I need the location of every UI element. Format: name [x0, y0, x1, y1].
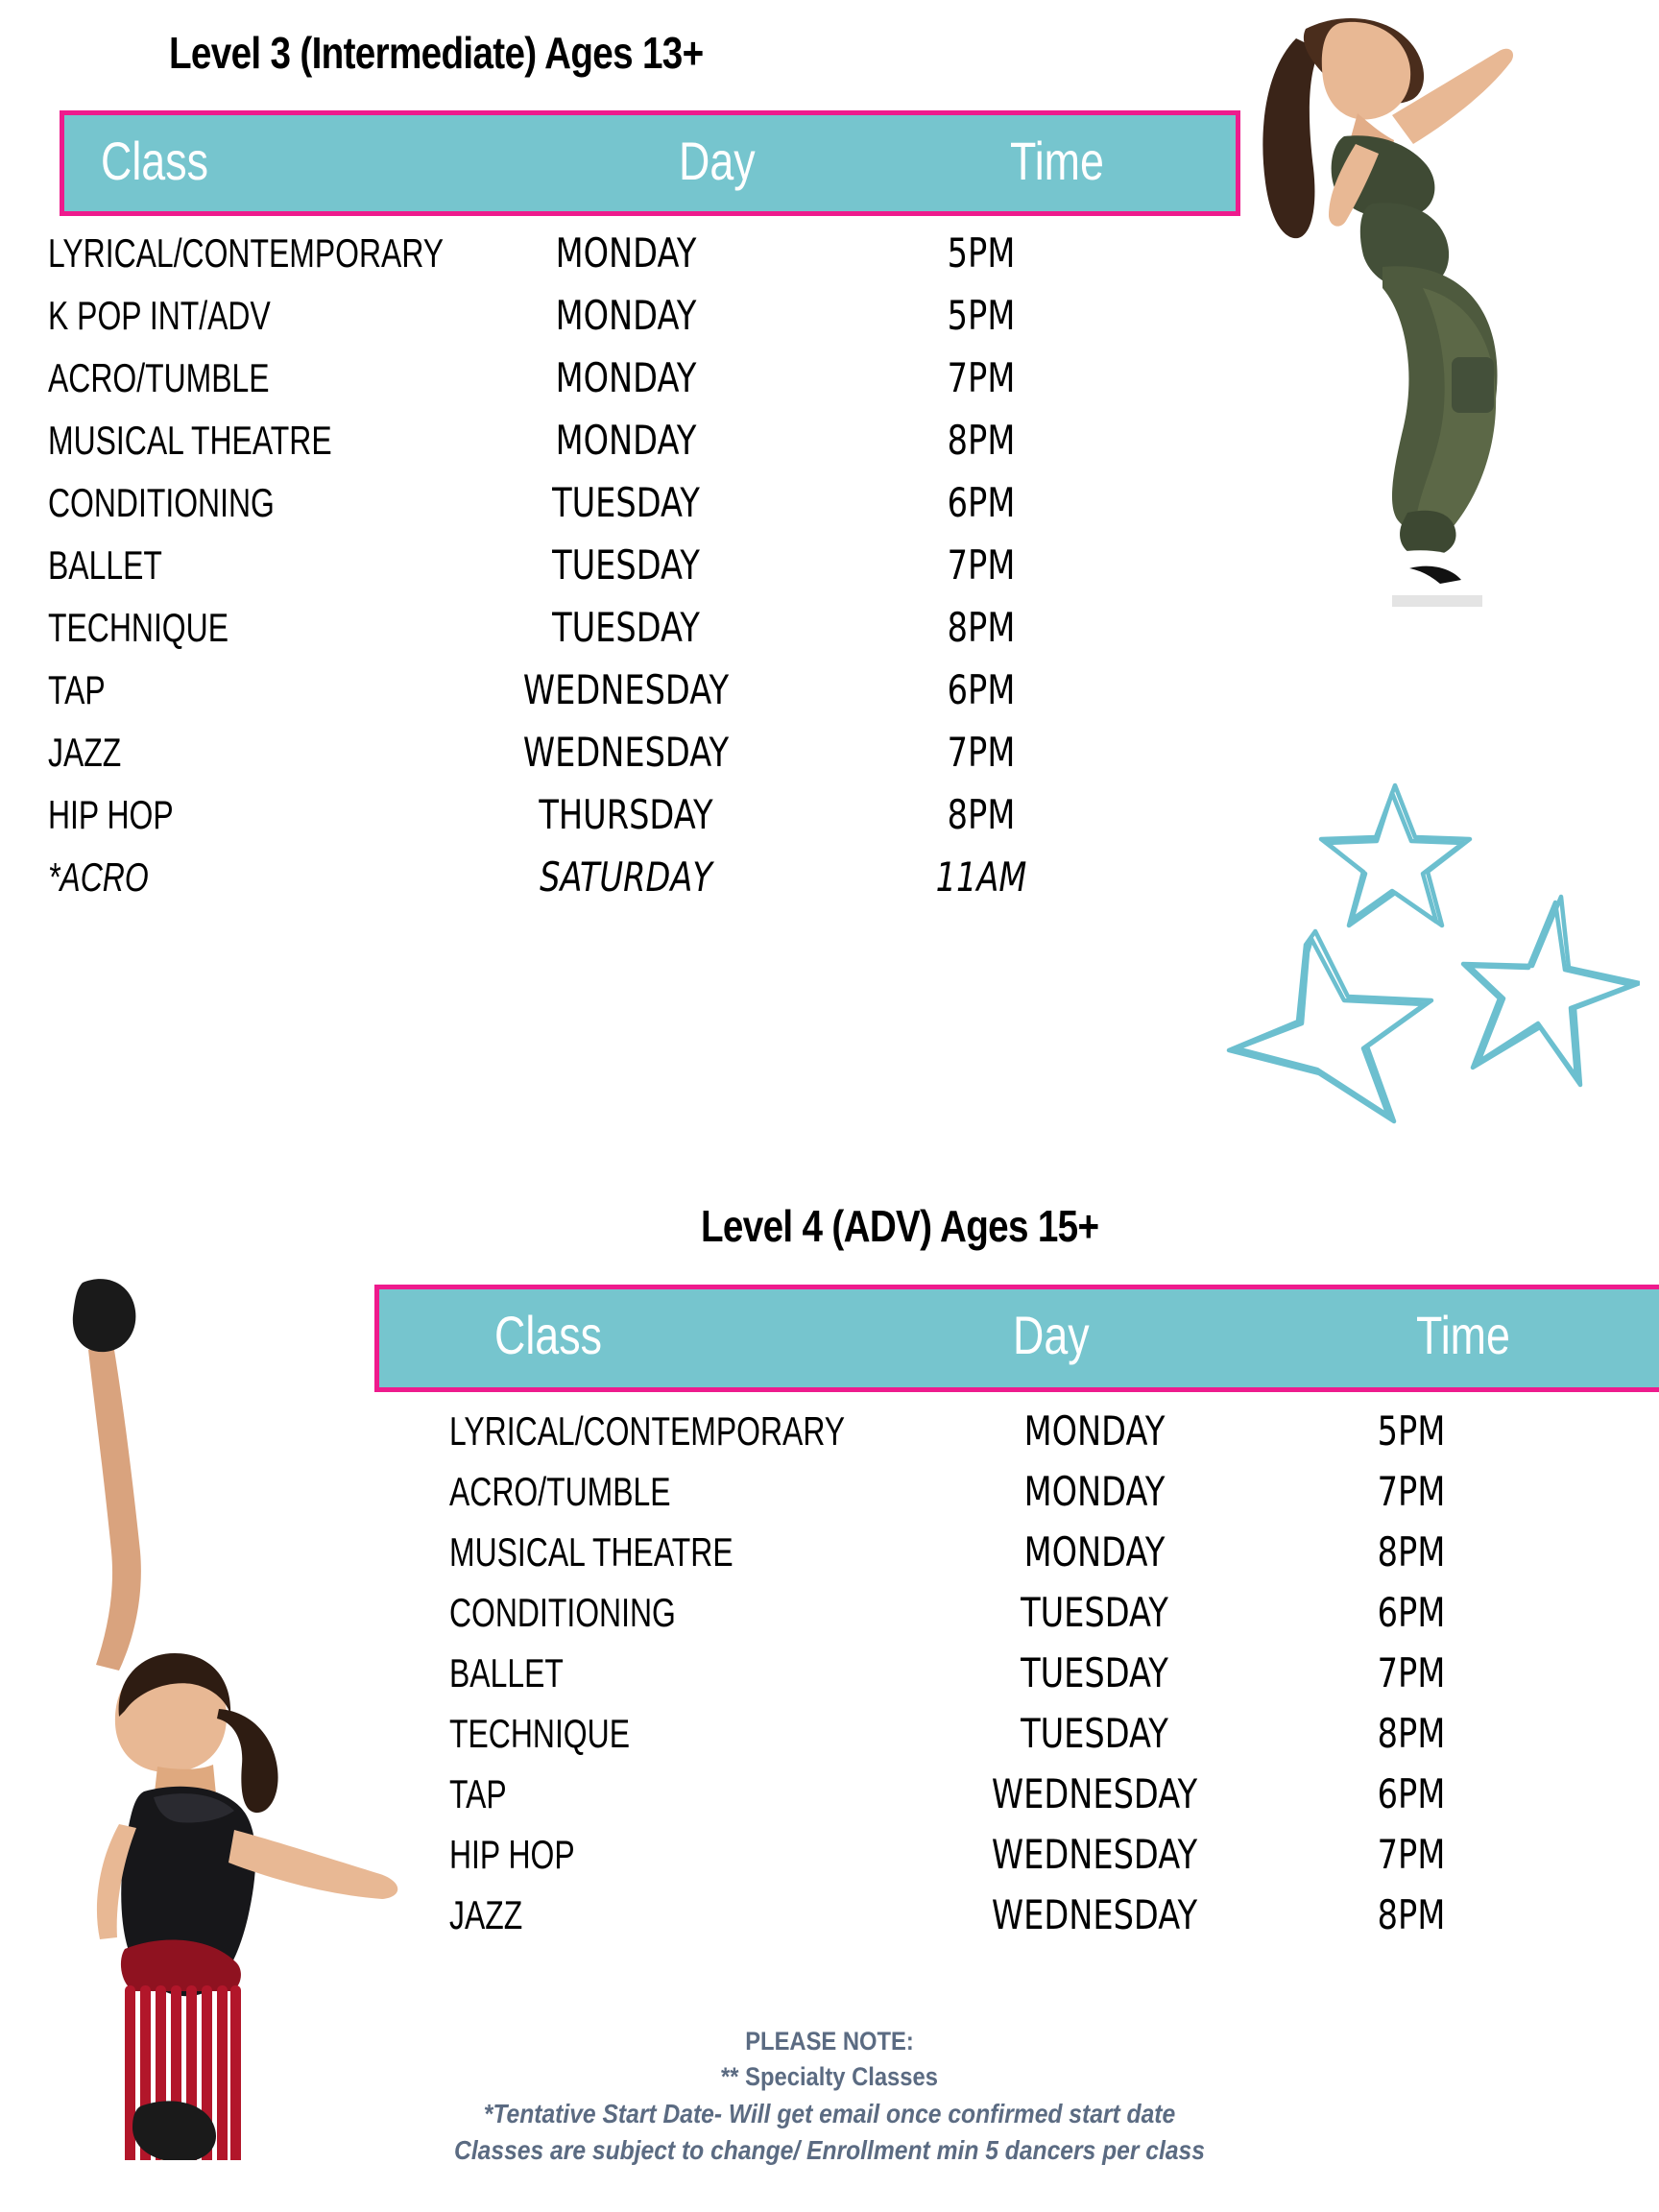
- cell-time: 8PM: [889, 608, 1073, 648]
- cell-class: ACRO/TUMBLE: [449, 1472, 671, 1512]
- page-title-level4: Level 4 (ADV) Ages 15+: [701, 1200, 1098, 1252]
- footer-note: PLEASE NOTE: ** Specialty Classes *Tenta…: [0, 2024, 1659, 2170]
- cell-time: 5PM: [1319, 1411, 1503, 1452]
- note-tentative-start-date: *Tentative Start Date- Will get email on…: [100, 2096, 1560, 2133]
- cell-class: JAZZ: [449, 1895, 522, 1935]
- table-row: CONDITIONINGTUESDAY6PM: [60, 477, 1240, 540]
- cell-day: WEDNESDAY: [465, 733, 787, 773]
- cell-time: 5PM: [889, 296, 1073, 336]
- cell-day: TUESDAY: [933, 1653, 1256, 1694]
- column-header-time: Time: [1416, 1309, 1510, 1362]
- cell-time: 6PM: [1319, 1593, 1503, 1633]
- cell-time: 7PM: [1319, 1835, 1503, 1875]
- cell-class: CONDITIONING: [449, 1593, 676, 1633]
- cell-time: 8PM: [889, 421, 1073, 461]
- cell-time: 6PM: [1319, 1774, 1503, 1815]
- cell-day: MONDAY: [465, 233, 787, 274]
- cell-class: JAZZ: [48, 733, 121, 773]
- cell-class: TECHNIQUE: [449, 1714, 630, 1754]
- cell-class: ACRO/TUMBLE: [48, 358, 270, 398]
- schedule-table-level3: Class Day Time LYRICAL/CONTEMPORARYMONDA…: [60, 110, 1240, 914]
- table-row: JAZZWEDNESDAY8PM: [374, 1889, 1659, 1950]
- page-title-level3: Level 3 (Intermediate) Ages 13+: [169, 27, 704, 79]
- table-row: TECHNIQUETUESDAY8PM: [60, 602, 1240, 664]
- column-header-time: Time: [1010, 134, 1104, 188]
- table-row: TAPWEDNESDAY6PM: [374, 1768, 1659, 1829]
- cell-day: THURSDAY: [465, 795, 787, 835]
- cell-day: WEDNESDAY: [933, 1774, 1256, 1815]
- table-header-level4: Class Day Time: [374, 1285, 1659, 1392]
- cell-class: *ACRO: [48, 857, 149, 898]
- cell-time: 8PM: [1319, 1714, 1503, 1754]
- table-row: BALLETTUESDAY7PM: [60, 540, 1240, 602]
- cell-time: 6PM: [889, 483, 1073, 523]
- table-row: MUSICAL THEATREMONDAY8PM: [60, 415, 1240, 477]
- cell-time: 5PM: [889, 233, 1073, 274]
- table-row: HIP HOPTHURSDAY8PM: [60, 789, 1240, 852]
- cell-class: MUSICAL THEATRE: [449, 1532, 733, 1573]
- table-row: K POP INT/ADVMONDAY5PM: [60, 290, 1240, 352]
- note-subject-to-change: Classes are subject to change/ Enrollmen…: [100, 2132, 1560, 2170]
- cell-time: 7PM: [889, 358, 1073, 398]
- table-body-level3: LYRICAL/CONTEMPORARYMONDAY5PMK POP INT/A…: [60, 228, 1240, 914]
- cell-time: 7PM: [1319, 1472, 1503, 1512]
- table-body-level4: LYRICAL/CONTEMPORARYMONDAY5PMACRO/TUMBLE…: [374, 1406, 1659, 1950]
- table-row: ACRO/TUMBLEMONDAY7PM: [374, 1466, 1659, 1527]
- cell-class: TAP: [449, 1774, 507, 1815]
- column-header-day: Day: [679, 134, 756, 188]
- cell-class: CONDITIONING: [48, 483, 275, 523]
- table-row: TAPWEDNESDAY6PM: [60, 664, 1240, 727]
- cell-class: K POP INT/ADV: [48, 296, 271, 336]
- cell-class: BALLET: [48, 545, 162, 586]
- cell-time: 7PM: [889, 733, 1073, 773]
- cell-class: BALLET: [449, 1653, 564, 1694]
- column-header-day: Day: [1013, 1309, 1090, 1362]
- cell-day: TUESDAY: [465, 483, 787, 523]
- cell-day: WEDNESDAY: [933, 1835, 1256, 1875]
- cell-time: 7PM: [1319, 1653, 1503, 1694]
- cell-day: MONDAY: [465, 358, 787, 398]
- cell-day: MONDAY: [465, 296, 787, 336]
- table-row: TECHNIQUETUESDAY8PM: [374, 1708, 1659, 1768]
- cell-time: 6PM: [889, 670, 1073, 710]
- cell-day: MONDAY: [933, 1411, 1256, 1452]
- note-specialty-classes: ** Specialty Classes: [100, 2059, 1560, 2095]
- cell-class: HIP HOP: [48, 795, 174, 835]
- table-row: HIP HOPWEDNESDAY7PM: [374, 1829, 1659, 1889]
- schedule-table-level4: Class Day Time LYRICAL/CONTEMPORARYMONDA…: [374, 1285, 1659, 1950]
- cell-day: TUESDAY: [933, 1714, 1256, 1754]
- cell-day: MONDAY: [465, 421, 787, 461]
- cell-day: TUESDAY: [465, 545, 787, 586]
- cell-class: MUSICAL THEATRE: [48, 421, 332, 461]
- cell-time: 7PM: [889, 545, 1073, 586]
- note-heading: PLEASE NOTE:: [100, 2024, 1560, 2059]
- cell-class: TAP: [48, 670, 106, 710]
- cell-class: LYRICAL/CONTEMPORARY: [449, 1411, 845, 1452]
- cell-time: 8PM: [1319, 1532, 1503, 1573]
- cell-time: 8PM: [889, 795, 1073, 835]
- table-row: MUSICAL THEATREMONDAY8PM: [374, 1527, 1659, 1587]
- cell-class: HIP HOP: [449, 1835, 575, 1875]
- cell-day: TUESDAY: [465, 608, 787, 648]
- table-row: JAZZWEDNESDAY7PM: [60, 727, 1240, 789]
- cell-day: TUESDAY: [933, 1593, 1256, 1633]
- cell-day: WEDNESDAY: [933, 1895, 1256, 1935]
- cell-day: WEDNESDAY: [465, 670, 787, 710]
- cell-day: MONDAY: [933, 1472, 1256, 1512]
- cell-time: 11AM: [889, 857, 1073, 898]
- column-header-class: Class: [494, 1309, 602, 1362]
- table-row: *ACROSATURDAY11AM: [60, 852, 1240, 914]
- cell-class: LYRICAL/CONTEMPORARY: [48, 233, 444, 274]
- table-row: ACRO/TUMBLEMONDAY7PM: [60, 352, 1240, 415]
- table-row: LYRICAL/CONTEMPORARYMONDAY5PM: [60, 228, 1240, 290]
- cell-day: SATURDAY: [465, 857, 787, 898]
- cell-day: MONDAY: [933, 1532, 1256, 1573]
- cell-time: 8PM: [1319, 1895, 1503, 1935]
- table-header-level3: Class Day Time: [60, 110, 1240, 216]
- table-row: CONDITIONINGTUESDAY6PM: [374, 1587, 1659, 1647]
- table-row: LYRICAL/CONTEMPORARYMONDAY5PM: [374, 1406, 1659, 1466]
- column-header-class: Class: [101, 134, 208, 188]
- table-row: BALLETTUESDAY7PM: [374, 1647, 1659, 1708]
- cell-class: TECHNIQUE: [48, 608, 228, 648]
- three-stars-doodle-icon: [1198, 780, 1640, 1154]
